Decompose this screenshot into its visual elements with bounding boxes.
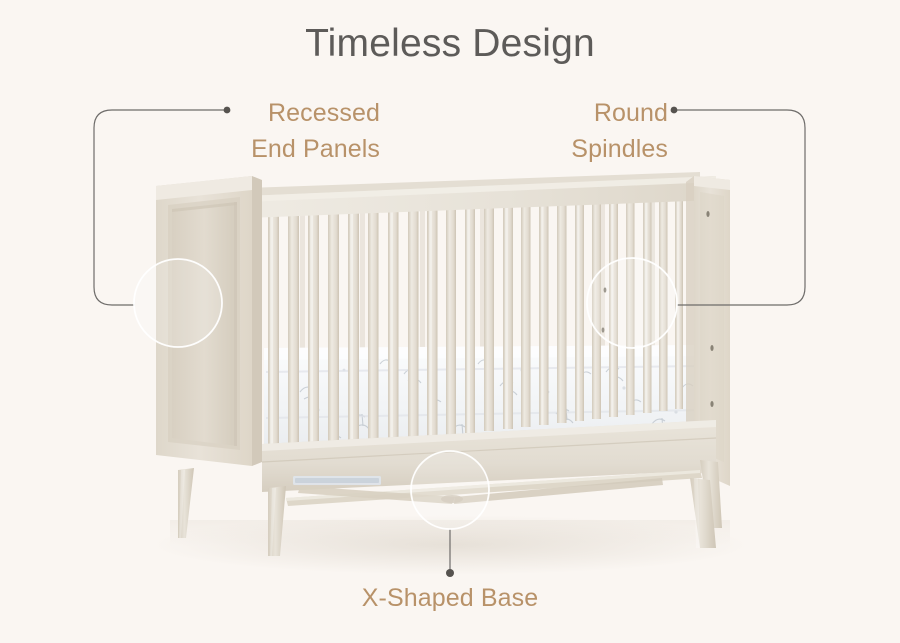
callout-label-recessed-end-panels: Recessed End Panels [0, 95, 380, 167]
callout-label-x-shaped-base: X-Shaped Base [250, 580, 650, 616]
focus-circle-x-shaped-base [411, 451, 489, 529]
callout-label-round-spindles: Round Spindles [520, 95, 668, 167]
crib-left-panel-return [252, 176, 262, 466]
focus-circle-recessed-end-panels [134, 259, 222, 347]
callout-label-line1: Round [594, 99, 668, 127]
product-feature-callout-graphic: Timeless Design Recessed End Panels Roun… [0, 0, 900, 643]
callout-label-line2: End Panels [251, 135, 380, 163]
page-title: Timeless Design [0, 22, 900, 66]
callout-label-line1: Recessed [268, 99, 380, 127]
connector-dot-round-spindles [671, 107, 678, 114]
callout-label-line2: Spindles [571, 135, 668, 163]
focus-circle-round-spindles [587, 258, 677, 348]
connector-dot-x-base [446, 569, 454, 577]
